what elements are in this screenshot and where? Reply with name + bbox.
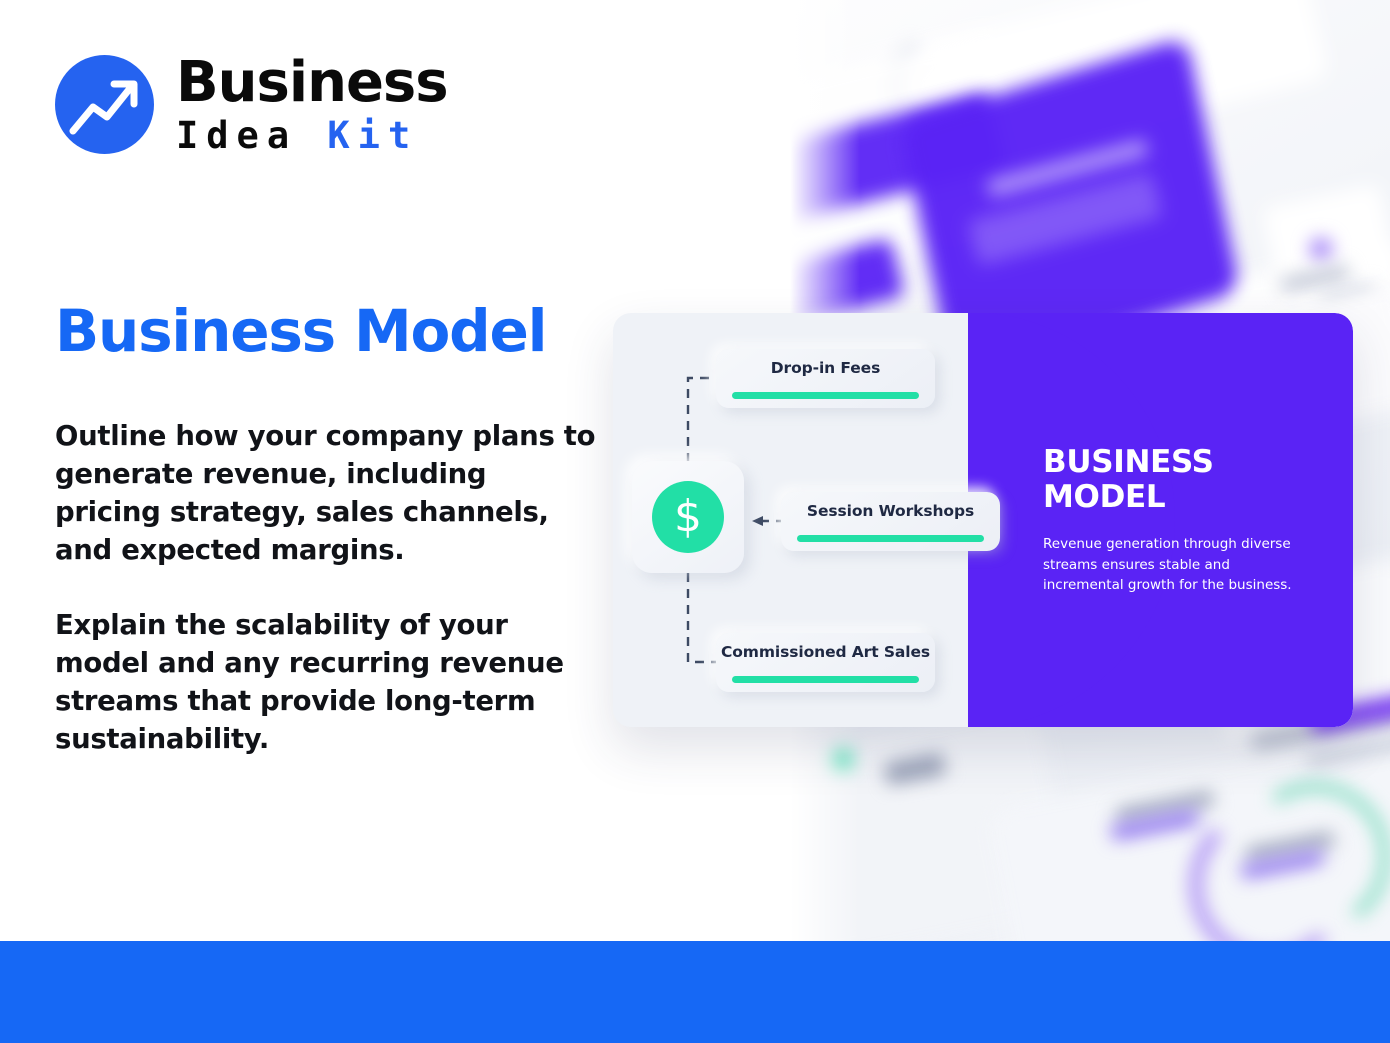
purple-summary-panel: BUSINESS MODEL Revenue generation throug… <box>968 313 1353 727</box>
stream-box-commissioned-art-sales[interactable]: Commissioned Art Sales <box>716 633 935 692</box>
svg-text:$: $ <box>674 492 702 542</box>
stream-box-session-workshops[interactable]: Session Workshops <box>781 492 1000 551</box>
brand-tagline: Idea Kit <box>176 117 448 154</box>
stream-box-drop-in-fees[interactable]: Drop-in Fees <box>716 349 935 408</box>
revenue-center-node: $ <box>632 461 744 573</box>
page-title: Business Model <box>55 297 546 365</box>
dollar-sign-icon: $ <box>652 481 724 553</box>
paragraph-2: Explain the scalability of your model an… <box>55 607 600 759</box>
panel-title: BUSINESS MODEL <box>1043 445 1313 514</box>
brand-tagline-accent: Kit <box>327 114 418 157</box>
footer-bar <box>0 941 1390 1043</box>
panel-description: Revenue generation through diverse strea… <box>1043 534 1313 596</box>
brand-name: Business <box>176 55 448 111</box>
stream-progress-bar <box>732 392 919 399</box>
stream-progress-bar <box>797 535 984 542</box>
stream-label: Session Workshops <box>807 502 974 520</box>
body-copy: Outline how your company plans to genera… <box>55 418 600 759</box>
stream-progress-bar <box>732 676 919 683</box>
stream-label: Commissioned Art Sales <box>721 643 930 661</box>
growth-arrow-icon <box>55 55 154 154</box>
paragraph-1: Outline how your company plans to genera… <box>55 418 600 570</box>
slide-root: Business Idea Kit Business Model Outline… <box>0 0 1390 1043</box>
stream-label: Drop-in Fees <box>771 359 880 377</box>
brand-tagline-prefix: Idea <box>176 114 327 157</box>
brand-logo: Business Idea Kit <box>55 55 448 154</box>
